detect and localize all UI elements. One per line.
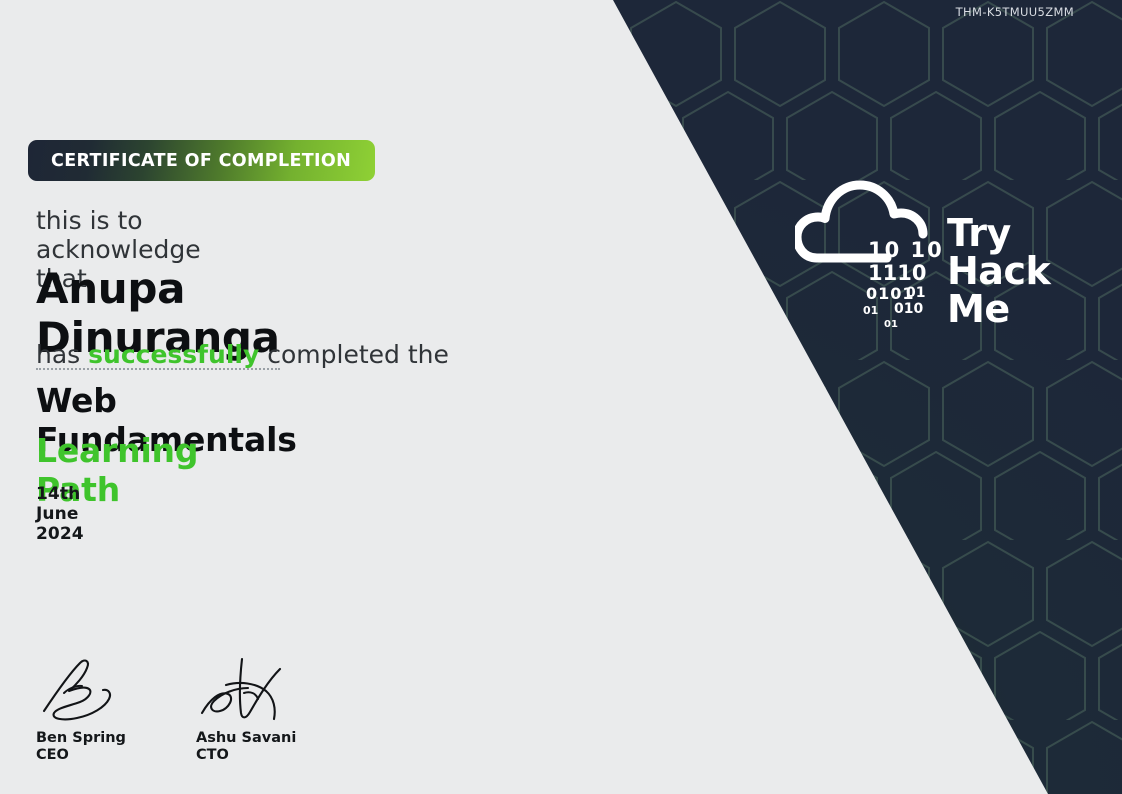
binary-row-4: 01 xyxy=(906,286,925,300)
binary-row-7: 01 xyxy=(884,320,898,330)
completion-badge: CERTIFICATE OF COMPLETION xyxy=(28,140,375,181)
binary-row-6: 010 xyxy=(894,302,923,316)
signature-ben-spring: Ben Spring CEO xyxy=(36,655,141,764)
tryhackme-logo: 10 10 1110 0101 01 01 010 01 Try Hack Me xyxy=(795,172,1085,337)
signature-ashu-savani: Ashu Savani CTO xyxy=(196,655,301,764)
signatory-name: Ben Spring xyxy=(36,730,141,747)
binary-row-5: 01 xyxy=(863,305,878,316)
wordmark-line-hack: Hack xyxy=(947,252,1050,290)
signatory-role: CEO xyxy=(36,747,141,764)
completion-badge-label: CERTIFICATE OF COMPLETION xyxy=(40,151,351,171)
signatory-name: Ashu Savani xyxy=(196,730,301,747)
completion-statement: has successfully completed the xyxy=(36,340,449,369)
certificate-page: THM-K5TMUU5ZMM 10 10 1110 0101 01 01 010… xyxy=(0,0,1122,794)
wordmark-line-me: Me xyxy=(947,290,1050,328)
signature-mark-icon xyxy=(36,655,141,725)
wordmark-line-try: Try xyxy=(947,214,1050,252)
completion-prefix: has xyxy=(36,340,88,369)
signatory-role: CTO xyxy=(196,747,301,764)
completion-highlight: successfully xyxy=(88,340,259,369)
signature-mark-icon xyxy=(196,655,301,725)
tryhackme-wordmark: Try Hack Me xyxy=(947,214,1050,328)
binary-row-1: 10 10 xyxy=(868,240,944,261)
issue-date: 14th June 2024 xyxy=(36,484,84,544)
completion-suffix: completed the xyxy=(259,340,449,369)
verification-code: THM-K5TMUU5ZMM xyxy=(956,5,1074,19)
binary-row-2: 1110 xyxy=(868,263,926,284)
